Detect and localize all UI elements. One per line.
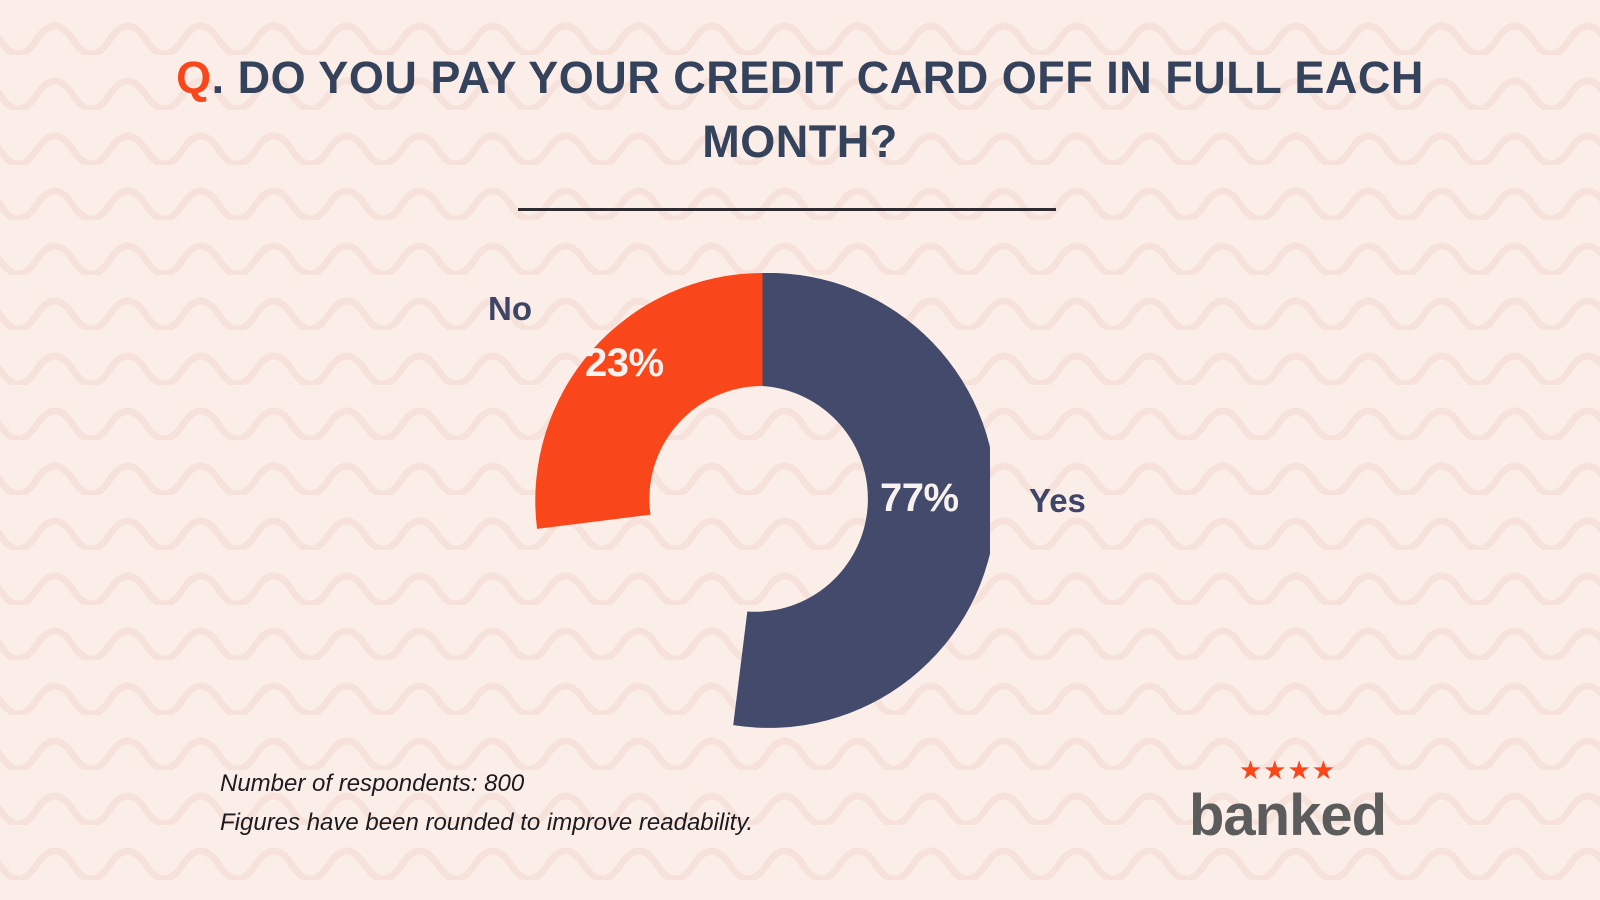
title-block: Q. DO YOU PAY YOUR CREDIT CARD OFF IN FU… <box>160 46 1440 174</box>
question-mark-prefix: Q <box>176 52 212 103</box>
infographic-canvas: Q. DO YOU PAY YOUR CREDIT CARD OFF IN FU… <box>0 0 1600 900</box>
slice-label-yes: Yes <box>1029 482 1086 520</box>
stars-icon: ★★★★ <box>1185 758 1390 784</box>
banked-logo: ★★★★ banked <box>1185 758 1390 847</box>
title-divider <box>518 208 1056 211</box>
footnote-respondents: Number of respondents: 800 <box>220 764 753 803</box>
footnote: Number of respondents: 800 Figures have … <box>220 764 753 842</box>
logo-wordmark: banked <box>1185 785 1390 847</box>
donut-slice-no[interactable] <box>535 273 762 529</box>
slice-value-no: 23% <box>585 341 664 386</box>
slice-value-yes: 77% <box>880 476 959 521</box>
slice-label-no: No <box>488 290 532 328</box>
page-title: Q. DO YOU PAY YOUR CREDIT CARD OFF IN FU… <box>160 46 1440 174</box>
page-title-text: . DO YOU PAY YOUR CREDIT CARD OFF IN FUL… <box>212 52 1424 167</box>
footnote-rounding: Figures have been rounded to improve rea… <box>220 803 753 842</box>
